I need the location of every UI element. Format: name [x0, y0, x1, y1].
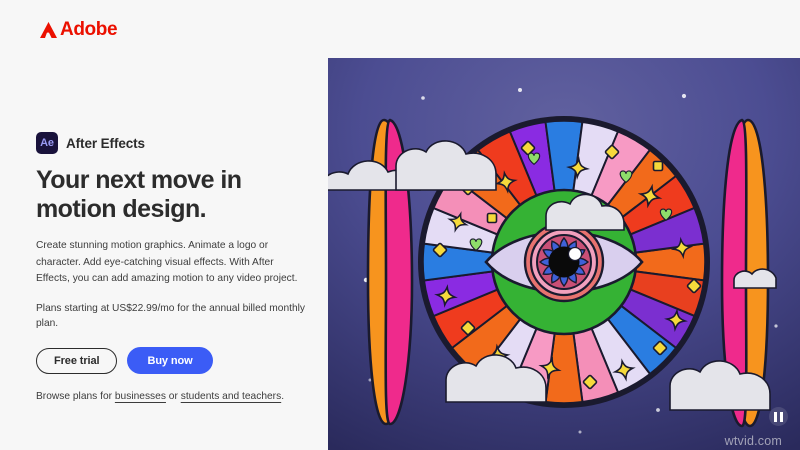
- browse-plans-text: Browse plans for businesses or students …: [36, 391, 314, 402]
- link-students-teachers[interactable]: students and teachers: [181, 391, 281, 402]
- after-effects-icon: Ae: [36, 132, 58, 154]
- product-name: After Effects: [66, 136, 145, 151]
- video-watermark: wtvid.com: [725, 434, 782, 448]
- pricing-note: Plans starting at US$22.99/mo for the an…: [36, 301, 314, 332]
- hero-description: Create stunning motion graphics. Animate…: [36, 238, 304, 288]
- browse-suffix: .: [281, 391, 284, 402]
- product-identity: Ae After Effects: [36, 132, 314, 154]
- hero-illustration-panel[interactable]: wtvid.com: [328, 58, 800, 450]
- free-trial-button[interactable]: Free trial: [36, 348, 117, 374]
- buy-now-button[interactable]: Buy now: [127, 347, 212, 374]
- pause-button[interactable]: [769, 407, 788, 426]
- adobe-wordmark: Adobe: [60, 20, 117, 39]
- motion-design-artwork: [328, 58, 800, 450]
- pause-bar-left: [774, 412, 777, 422]
- pause-bar-right: [780, 412, 783, 422]
- adobe-a-mark: [40, 22, 57, 38]
- adobe-after-effects-promo-page: Adobe Ae After Effects Your next move in…: [0, 0, 800, 450]
- page-title: Your next move in motion design.: [36, 166, 308, 224]
- adobe-logo[interactable]: Adobe: [40, 20, 117, 39]
- pupil-highlight: [569, 248, 582, 261]
- link-businesses[interactable]: businesses: [115, 391, 166, 402]
- browse-prefix: Browse plans for: [36, 391, 115, 402]
- hero-copy-column: Ae After Effects Your next move in motio…: [36, 132, 314, 402]
- cta-button-row: Free trial Buy now: [36, 347, 314, 374]
- browse-middle: or: [166, 391, 181, 402]
- cloud-small-right: [734, 269, 776, 288]
